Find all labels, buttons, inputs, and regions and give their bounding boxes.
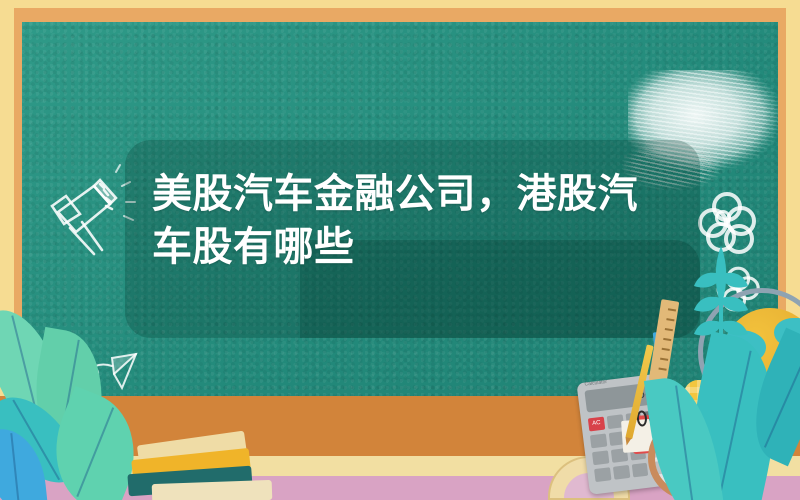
calculator-brand-label: Calculator [584, 379, 607, 388]
flower-chalk-icon [698, 192, 754, 248]
desk-scene: Calculator 64 AC 1 [0, 310, 800, 500]
page-title: 美股汽车金融公司，港股汽 车股有哪些 [152, 168, 672, 274]
page-title-line-1: 美股汽车金融公司，港股汽 [152, 168, 672, 221]
leaf-sprig-decoration [688, 246, 754, 376]
book-stack-item-4 [152, 480, 273, 500]
page-title-line-2: 车股有哪些 [152, 221, 672, 274]
cover-image-canvas: 美股汽车金融公司，港股汽 车股有哪些 Calculator [0, 0, 800, 500]
calculator-key-ac: AC [588, 417, 605, 432]
